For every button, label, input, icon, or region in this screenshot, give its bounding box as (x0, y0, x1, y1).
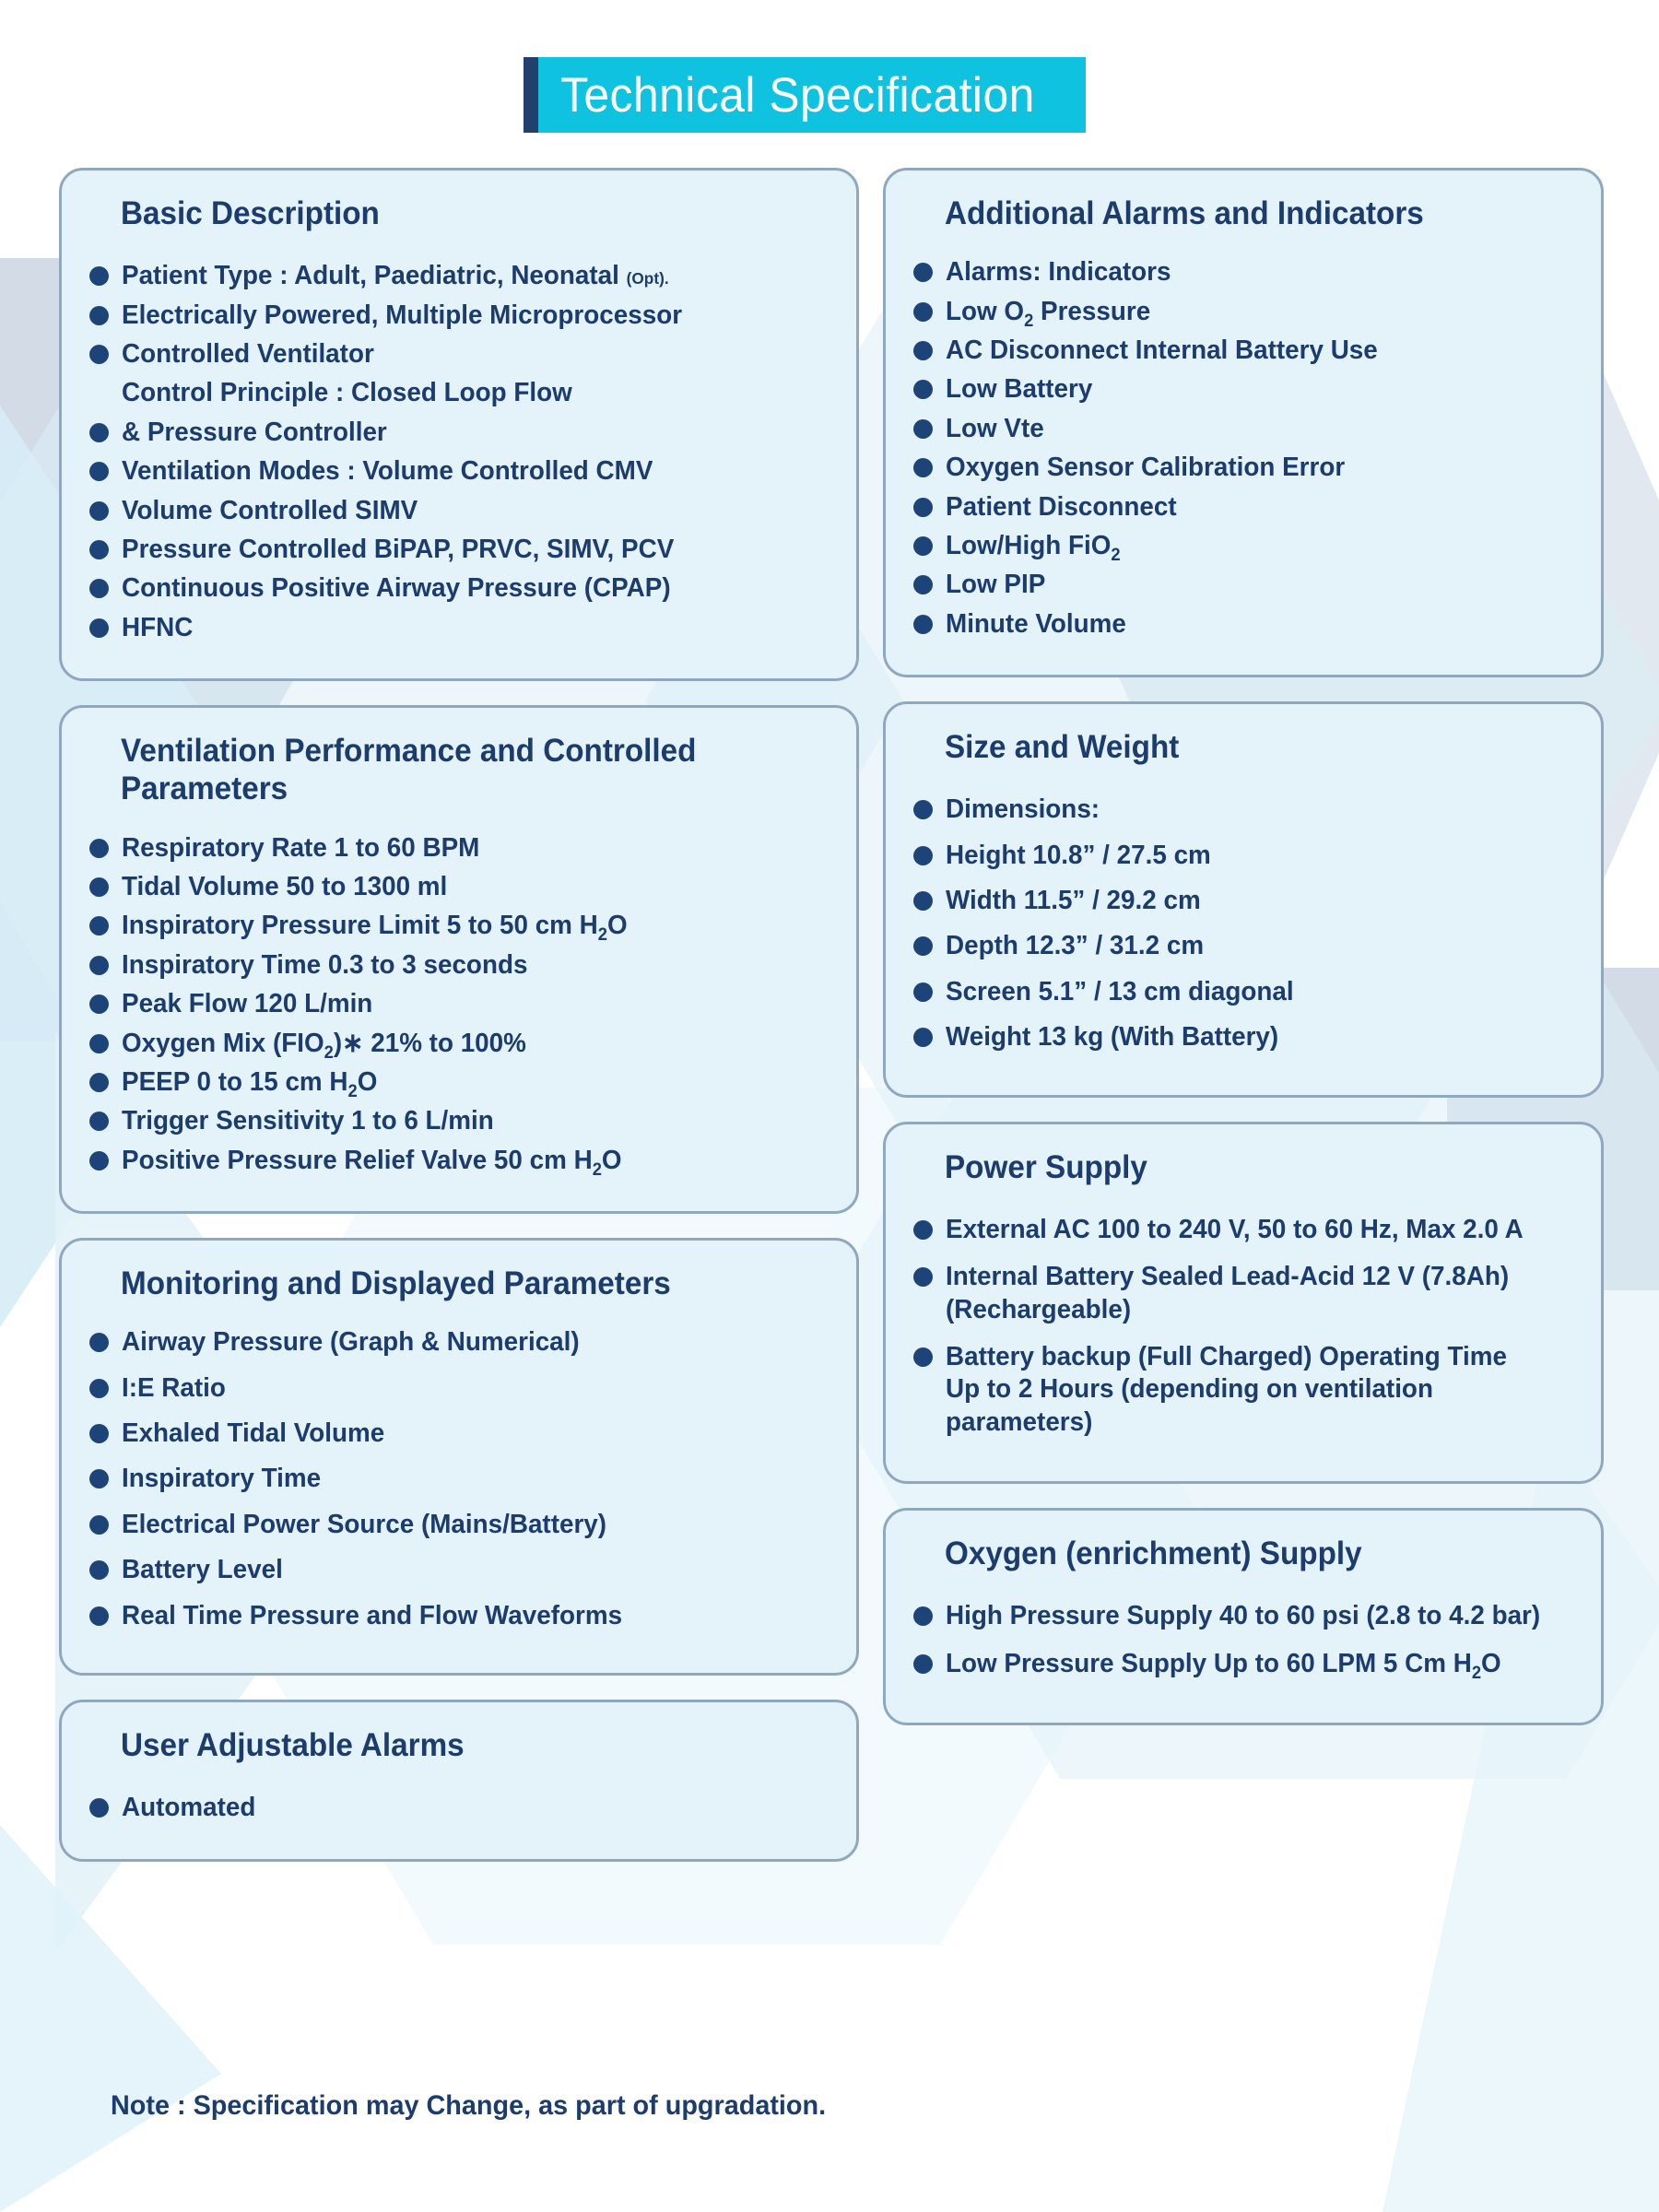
spec-list-item-label: Alarms: Indicators (946, 256, 1548, 288)
bullet-dot-icon (89, 1034, 109, 1053)
bullet-dot-icon (913, 936, 933, 956)
bullet-dot-icon (913, 419, 933, 439)
subscript: 2 (1111, 546, 1120, 565)
spec-list-item-label: PEEP 0 to 15 cm H2O (122, 1066, 800, 1099)
bullet-dot-icon (89, 618, 109, 638)
spec-card-monitoring-and-displayed-parameters: Monitoring and Displayed ParametersAirwa… (59, 1238, 859, 1676)
spec-list-item-label: Respiratory Rate 1 to 60 BPM (122, 832, 800, 865)
spec-card-ventilation-performance-and-controlled-parameters: Ventilation Performance and Controlled P… (59, 705, 859, 1214)
spec-list-item-label: Internal Battery Sealed Lead-Acid 12 V (… (946, 1261, 1548, 1326)
spec-list-item-label: Minute Volume (946, 608, 1548, 641)
title-bar: Technical Specification (538, 57, 1086, 133)
spec-list-item-label: Exhaled Tidal Volume (122, 1418, 800, 1450)
card-heading: Monitoring and Displayed Parameters (121, 1265, 794, 1302)
spec-list-item: Oxygen Sensor Calibration Error (913, 452, 1573, 484)
card-heading: User Adjustable Alarms (121, 1726, 794, 1764)
bullet-dot-icon (89, 916, 109, 935)
spec-list-item-label: Patient Disconnect (946, 491, 1548, 524)
subscript: 2 (1024, 311, 1033, 330)
bullet-dot-icon (913, 615, 933, 634)
spec-list-item: Electrical Power Source (Mains/Battery) (89, 1509, 829, 1541)
spec-list-item-label: Automated (122, 1792, 800, 1824)
bullet-dot-icon (913, 1347, 933, 1367)
spec-list-item: AC Disconnect Internal Battery Use (913, 335, 1573, 367)
spec-card-additional-alarms-and-indicators: Additional Alarms and IndicatorsAlarms: … (883, 168, 1604, 677)
spec-list-item: Inspiratory Time (89, 1463, 829, 1495)
spec-card-power-supply: Power SupplyExternal AC 100 to 240 V, 50… (883, 1122, 1604, 1485)
bullet-dot-icon (89, 1073, 109, 1092)
bullet-dot-icon (913, 341, 933, 360)
bullet-dot-icon (89, 1560, 109, 1580)
spec-list-item: Inspiratory Time 0.3 to 3 seconds (89, 949, 829, 982)
spec-list-item: Oxygen Mix (FIO2)∗ 21% to 100% (89, 1028, 829, 1060)
spec-list-item-label: Battery backup (Full Charged) Operating … (946, 1341, 1548, 1439)
spec-list-item: Tidal Volume 50 to 1300 ml (89, 871, 829, 903)
spec-list-item-label: HFNC (122, 612, 800, 644)
title-accent-bar (524, 57, 538, 133)
spec-list-item: Height 10.8” / 27.5 cm (913, 840, 1573, 872)
spec-list-item-label: Low O2 Pressure (946, 296, 1548, 328)
bullet-dot-icon (89, 1151, 109, 1171)
spec-list-item: Depth 12.3” / 31.2 cm (913, 930, 1573, 962)
bullet-dot-icon (913, 536, 933, 556)
bullet-dot-icon (913, 1220, 933, 1240)
subscript: 2 (348, 1082, 358, 1101)
spec-list-item-label: Height 10.8” / 27.5 cm (946, 840, 1548, 872)
spec-list-item: Respiratory Rate 1 to 60 BPM (89, 832, 829, 865)
spec-list-item: Control Principle : Closed Loop Flow (89, 377, 829, 409)
spec-list-item: Width 11.5” / 29.2 cm (913, 885, 1573, 917)
spec-list: External AC 100 to 240 V, 50 to 60 Hz, M… (913, 1214, 1573, 1439)
card-heading: Ventilation Performance and Controlled P… (121, 732, 794, 808)
spec-list-item: Low Pressure Supply Up to 60 LPM 5 Cm H2… (913, 1648, 1573, 1680)
spec-list-item: High Pressure Supply 40 to 60 psi (2.8 t… (913, 1600, 1573, 1632)
spec-list-item-label: AC Disconnect Internal Battery Use (946, 335, 1548, 367)
spec-list: Patient Type : Adult, Paediatric, Neonat… (89, 260, 829, 644)
bullet-dot-icon (89, 956, 109, 975)
spec-list-item: Internal Battery Sealed Lead-Acid 12 V (… (913, 1261, 1573, 1326)
spec-list: Respiratory Rate 1 to 60 BPMTidal Volume… (89, 832, 829, 1177)
spec-list: Dimensions:Height 10.8” / 27.5 cmWidth 1… (913, 794, 1573, 1053)
bullet-dot-icon (89, 839, 109, 858)
spec-card-oxygen-enrichment-supply: Oxygen (enrichment) SupplyHigh Pressure … (883, 1508, 1604, 1725)
spec-list-item-label: I:E Ratio (122, 1372, 800, 1405)
spec-list-item-label: Width 11.5” / 29.2 cm (946, 885, 1548, 917)
bullet-dot-icon (913, 982, 933, 1002)
bullet-dot-icon (89, 1424, 109, 1443)
spec-list-item-label: Peak Flow 120 L/min (122, 988, 800, 1020)
spec-list-item: Volume Controlled SIMV (89, 495, 829, 527)
spec-list-item: Positive Pressure Relief Valve 50 cm H2O (89, 1145, 829, 1177)
spec-list-item: Trigger Sensitivity 1 to 6 L/min (89, 1105, 829, 1137)
spec-list-item: Weight 13 kg (With Battery) (913, 1021, 1573, 1053)
subscript: 2 (1472, 1664, 1481, 1683)
spec-list-item: Exhaled Tidal Volume (89, 1418, 829, 1450)
bullet-dot-icon (89, 306, 109, 325)
spec-list-item: Automated (89, 1792, 829, 1824)
spec-list-item: & Pressure Controller (89, 417, 829, 449)
bullet-dot-icon (89, 1333, 109, 1352)
spec-list-item: Low/High FiO2 (913, 530, 1573, 562)
bullet-dot-icon (89, 501, 109, 521)
spec-list-item: Screen 5.1” / 13 cm diagonal (913, 976, 1573, 1008)
spec-list-item-label: Inspiratory Time 0.3 to 3 seconds (122, 949, 800, 982)
spec-list-item-label: Battery Level (122, 1554, 800, 1586)
bullet-dot-icon (89, 1469, 109, 1488)
optional-note: (Opt). (627, 269, 669, 288)
spec-list-item-label: Weight 13 kg (With Battery) (946, 1021, 1548, 1053)
subscript: 2 (593, 1159, 602, 1179)
spec-list-item-label: Low PIP (946, 569, 1548, 601)
spec-list-item-label: Controlled Ventilator (122, 338, 800, 371)
spec-list-item: Continuous Positive Airway Pressure (CPA… (89, 572, 829, 605)
bullet-dot-icon (913, 891, 933, 911)
spec-list-item-label: High Pressure Supply 40 to 60 psi (2.8 t… (946, 1600, 1548, 1632)
bullet-dot-icon (913, 458, 933, 477)
spec-list-item-label: Real Time Pressure and Flow Waveforms (122, 1600, 800, 1632)
bullet-dot-icon (913, 498, 933, 517)
spec-sheet-page: Technical Specification Basic Descriptio… (0, 0, 1659, 2212)
spec-list-item: Low PIP (913, 569, 1573, 601)
bullet-dot-icon (89, 877, 109, 897)
bullet-dot-icon (89, 423, 109, 442)
spec-list: Automated (89, 1792, 829, 1824)
spec-list-item-label: Electrical Power Source (Mains/Battery) (122, 1509, 800, 1541)
bullet-dot-icon (913, 380, 933, 399)
spec-list-item-label: Oxygen Mix (FIO2)∗ 21% to 100% (122, 1028, 800, 1060)
spec-list-item-label: Tidal Volume 50 to 1300 ml (122, 871, 800, 903)
spec-list-item-label: Volume Controlled SIMV (122, 495, 800, 527)
spec-list-item-label: Low/High FiO2 (946, 530, 1548, 562)
spec-list-item-label: Low Vte (946, 413, 1548, 445)
spec-list-item-label: Oxygen Sensor Calibration Error (946, 452, 1548, 484)
bullet-dot-icon (89, 462, 109, 481)
spec-list-item-label: Electrically Powered, Multiple Microproc… (122, 300, 800, 332)
bullet-dot-icon (913, 1654, 933, 1674)
bullet-dot-icon (913, 846, 933, 865)
spec-list-item-label: Trigger Sensitivity 1 to 6 L/min (122, 1105, 800, 1137)
card-heading: Basic Description (121, 194, 794, 232)
spec-card-basic-description: Basic DescriptionPatient Type : Adult, P… (59, 168, 859, 681)
bullet-dot-icon (89, 1798, 109, 1818)
bullet-dot-icon (913, 800, 933, 819)
spec-list-item-label: Inspiratory Time (122, 1463, 800, 1495)
card-heading: Oxygen (enrichment) Supply (945, 1535, 1542, 1572)
spec-list-item: Inspiratory Pressure Limit 5 to 50 cm H2… (89, 910, 829, 942)
bullet-dot-icon (913, 575, 933, 594)
spec-list-item: HFNC (89, 612, 829, 644)
spec-list-item-label: Control Principle : Closed Loop Flow (122, 377, 800, 409)
spec-list-item: Electrically Powered, Multiple Microproc… (89, 300, 829, 332)
bullet-dot-icon (89, 540, 109, 559)
spec-list: Airway Pressure (Graph & Numerical)I:E R… (89, 1326, 829, 1632)
page-title: Technical Specification (560, 67, 1035, 124)
spec-list-item-label: Continuous Positive Airway Pressure (CPA… (122, 572, 800, 605)
spec-list-item-label: Inspiratory Pressure Limit 5 to 50 cm H2… (122, 910, 800, 942)
spec-list-item: Dimensions: (913, 794, 1573, 826)
bullet-dot-icon (89, 1379, 109, 1398)
bullet-dot-icon (913, 1028, 933, 1047)
bullet-dot-icon (89, 345, 109, 364)
footer-note: Note : Specification may Change, as part… (111, 2090, 826, 2122)
bullet-dot-icon (89, 1515, 109, 1535)
card-heading: Power Supply (945, 1148, 1542, 1186)
right-column: Additional Alarms and IndicatorsAlarms: … (883, 168, 1604, 1749)
bullet-dot-icon (89, 1112, 109, 1131)
spec-list-item: PEEP 0 to 15 cm H2O (89, 1066, 829, 1099)
spec-list-item-label: Low Pressure Supply Up to 60 LPM 5 Cm H2… (946, 1648, 1548, 1680)
bullet-dot-icon (89, 266, 109, 286)
spec-list-item: I:E Ratio (89, 1372, 829, 1405)
spec-list: Alarms: IndicatorsLow O2 PressureAC Disc… (913, 256, 1573, 641)
spec-list-item: Battery Level (89, 1554, 829, 1586)
left-column: Basic DescriptionPatient Type : Adult, P… (59, 168, 859, 1886)
spec-list-item-label: Pressure Controlled BiPAP, PRVC, SIMV, P… (122, 534, 800, 566)
spec-list-item: Pressure Controlled BiPAP, PRVC, SIMV, P… (89, 534, 829, 566)
bullet-dot-icon (913, 302, 933, 322)
spec-card-size-and-weight: Size and WeightDimensions:Height 10.8” /… (883, 701, 1604, 1098)
spec-list-item-label: Airway Pressure (Graph & Numerical) (122, 1326, 800, 1359)
spec-list-item: Real Time Pressure and Flow Waveforms (89, 1600, 829, 1632)
spec-list-item: External AC 100 to 240 V, 50 to 60 Hz, M… (913, 1214, 1573, 1246)
spec-list-item: Airway Pressure (Graph & Numerical) (89, 1326, 829, 1359)
spec-card-user-adjustable-alarms: User Adjustable AlarmsAutomated (59, 1700, 859, 1862)
subscript: 2 (324, 1042, 334, 1062)
bullet-dot-icon (913, 1606, 933, 1626)
spec-list-item: Patient Disconnect (913, 491, 1573, 524)
spec-list: High Pressure Supply 40 to 60 psi (2.8 t… (913, 1600, 1573, 1680)
spec-list-item: Patient Type : Adult, Paediatric, Neonat… (89, 260, 829, 292)
spec-list-item-label: Depth 12.3” / 31.2 cm (946, 930, 1548, 962)
spec-list-item: Battery backup (Full Charged) Operating … (913, 1341, 1573, 1439)
bullet-dot-icon (913, 1267, 933, 1287)
spec-list-item: Alarms: Indicators (913, 256, 1573, 288)
spec-list-item-label: & Pressure Controller (122, 417, 800, 449)
spec-list-item-label: Ventilation Modes : Volume Controlled CM… (122, 455, 800, 488)
subscript: 2 (598, 925, 607, 945)
spec-list-item-label: External AC 100 to 240 V, 50 to 60 Hz, M… (946, 1214, 1548, 1246)
card-heading: Size and Weight (945, 728, 1542, 766)
bullet-dot-icon (89, 579, 109, 598)
bullet-dot-icon (89, 994, 109, 1014)
spec-list-item: Controlled Ventilator (89, 338, 829, 371)
spec-list-item: Peak Flow 120 L/min (89, 988, 829, 1020)
spec-list-item-label: Screen 5.1” / 13 cm diagonal (946, 976, 1548, 1008)
spec-list-item: Low Vte (913, 413, 1573, 445)
page-title-banner: Technical Specification (524, 57, 1086, 133)
spec-list-item: Low O2 Pressure (913, 296, 1573, 328)
card-heading: Additional Alarms and Indicators (945, 194, 1542, 232)
spec-list-item-label: Low Battery (946, 373, 1548, 406)
spec-list-item-label: Dimensions: (946, 794, 1548, 826)
spec-list-item-label: Positive Pressure Relief Valve 50 cm H2O (122, 1145, 800, 1177)
spec-list-item: Low Battery (913, 373, 1573, 406)
spec-list-item-label: Patient Type : Adult, Paediatric, Neonat… (122, 260, 800, 292)
spec-list-item: Minute Volume (913, 608, 1573, 641)
spec-list-item: Ventilation Modes : Volume Controlled CM… (89, 455, 829, 488)
bullet-dot-icon (89, 1606, 109, 1626)
bullet-dot-icon (913, 263, 933, 282)
